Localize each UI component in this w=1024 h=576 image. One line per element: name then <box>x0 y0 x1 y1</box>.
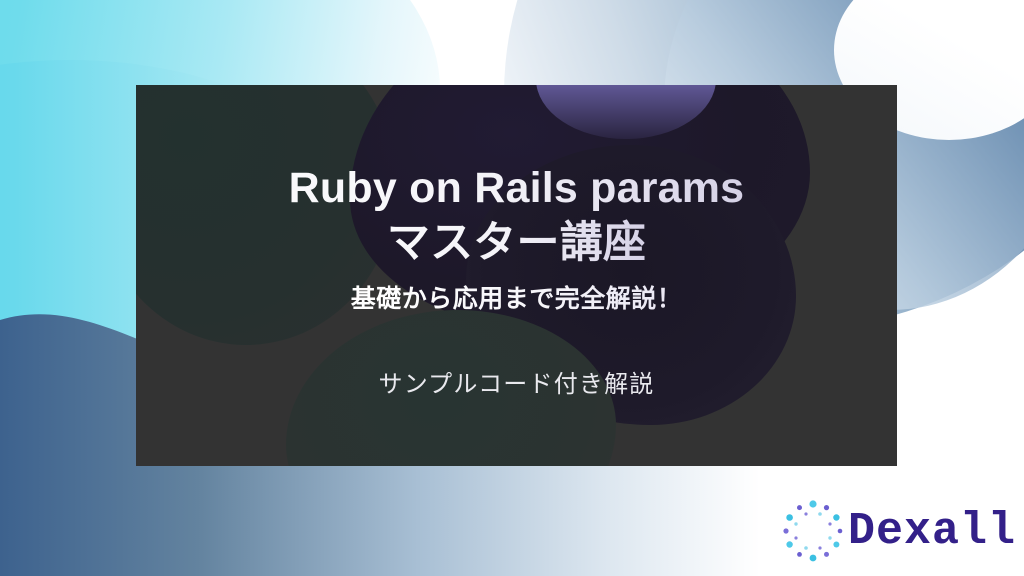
page-subtitle: 基礎から応用まで完全解説！ <box>351 279 683 315</box>
brand-logo[interactable]: Dexall <box>780 492 1024 570</box>
dot-ring-icon <box>780 498 846 564</box>
page-tagline: サンプルコード付き解説 <box>379 364 655 399</box>
card-content: Ruby on Rails params マスター講座 基礎から応用まで完全解説… <box>136 85 897 466</box>
page-title-line-2: マスター講座 <box>387 216 646 271</box>
page-title-line-1: Ruby on Rails params <box>289 161 745 216</box>
title-card: Ruby on Rails params マスター講座 基礎から応用まで完全解説… <box>136 85 897 466</box>
brand-name: Dexall <box>848 509 1016 554</box>
